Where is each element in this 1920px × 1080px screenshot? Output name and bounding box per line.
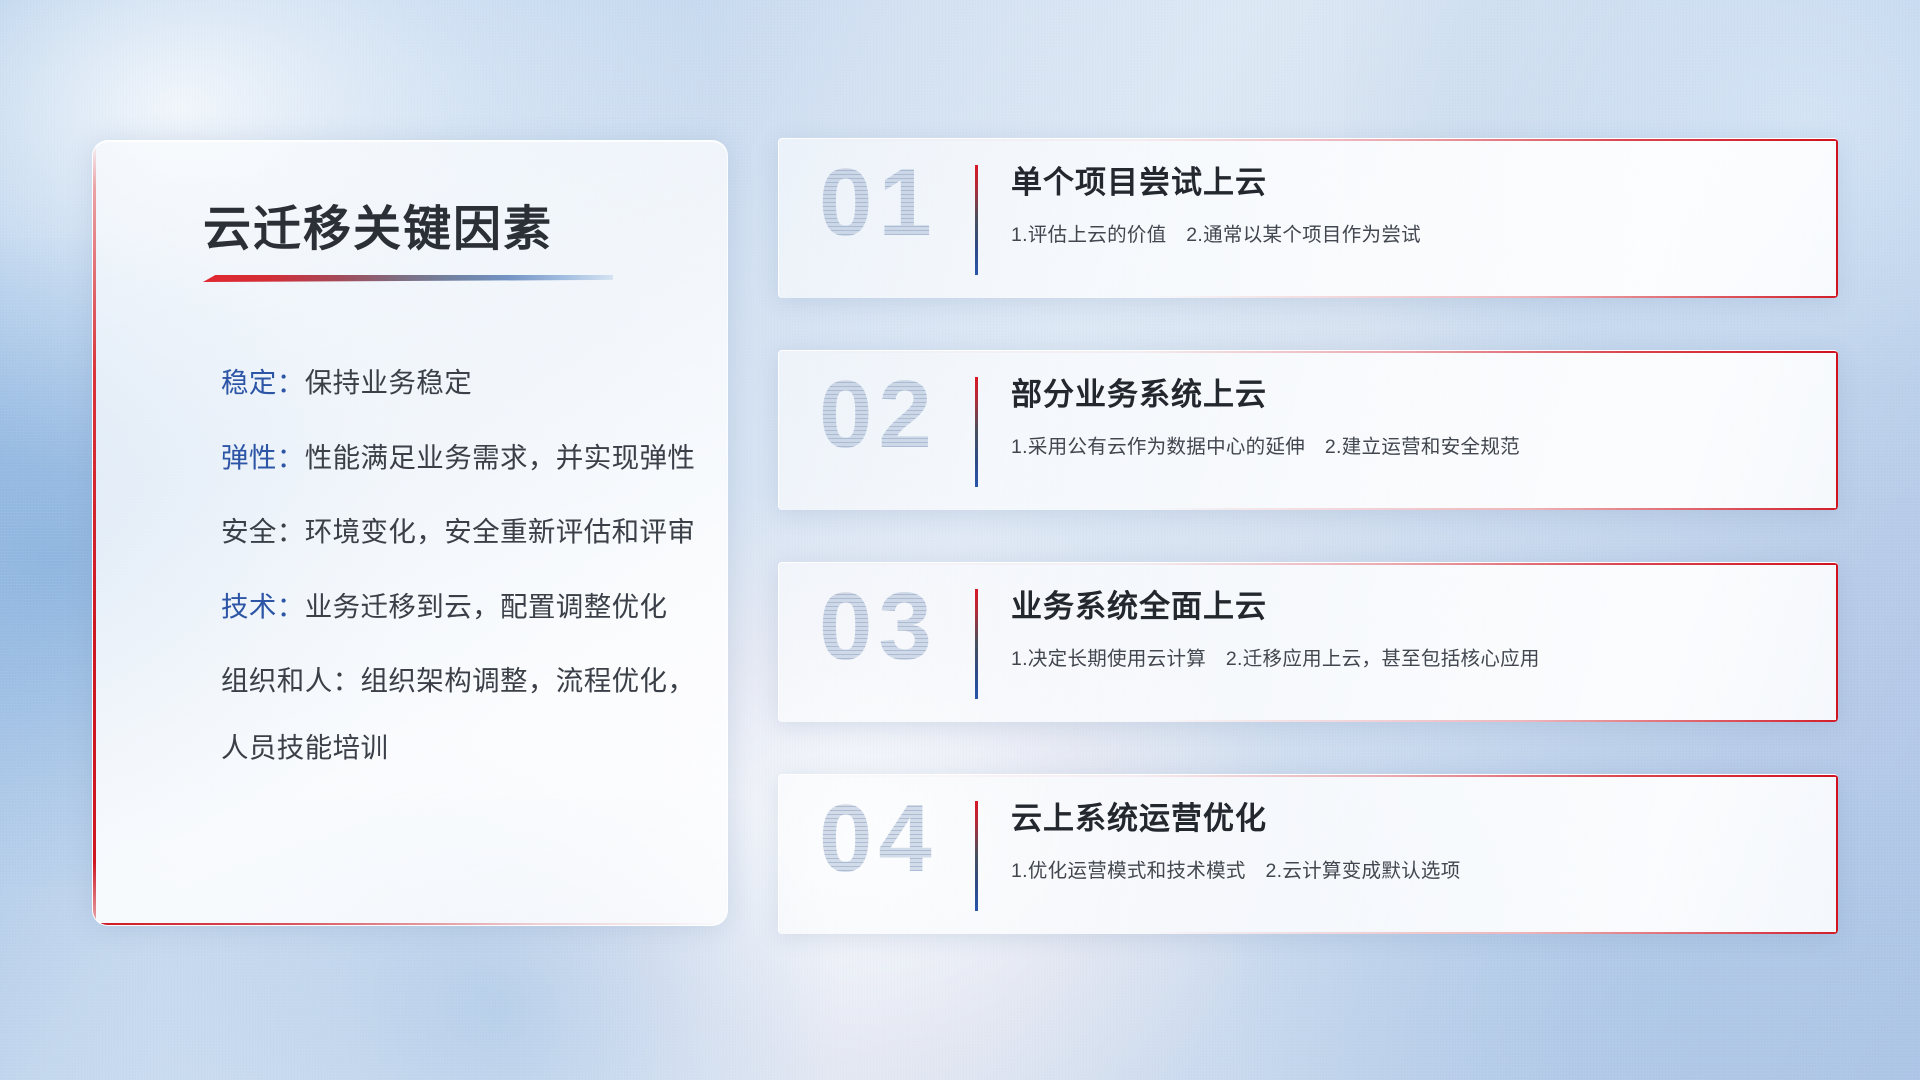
migration-steps-list: 01单个项目尝试上云1.评估上云的价值 2.通常以某个项目作为尝试02部分业务系…: [778, 138, 1838, 986]
factor-description: 性能满足业务需求，并实现弹性: [305, 442, 696, 473]
card-top-accent: [779, 351, 1838, 353]
step-subtitle: 1.优化运营模式和技术模式 2.云计算变成默认选项: [1011, 854, 1798, 883]
card-bottom-accent: [1150, 720, 1838, 722]
step-card[interactable]: 01单个项目尝试上云1.评估上云的价值 2.通常以某个项目作为尝试: [778, 138, 1838, 298]
step-number: 04: [819, 791, 938, 887]
step-body: 业务系统全面上云1.决定长期使用云计算 2.迁移应用上云，甚至包括核心应用: [1011, 589, 1798, 671]
step-divider: [975, 801, 978, 911]
step-body: 云上系统运营优化1.优化运营模式和技术模式 2.云计算变成默认选项: [1011, 801, 1798, 883]
factor-row: 稳定：保持业务稳定: [221, 369, 687, 397]
factor-label: 弹性：: [221, 442, 305, 473]
card-top-accent: [779, 139, 1838, 141]
step-divider: [975, 589, 978, 699]
factor-label: 安全：: [221, 516, 305, 547]
factor-description: 保持业务稳定: [305, 367, 472, 398]
step-card[interactable]: 04云上系统运营优化1.优化运营模式和技术模式 2.云计算变成默认选项: [778, 774, 1838, 934]
step-number: 02: [819, 367, 938, 463]
card-top-accent: [779, 563, 1838, 565]
step-title: 业务系统全面上云: [1011, 589, 1798, 626]
step-body: 部分业务系统上云1.采用公有云作为数据中心的延伸 2.建立运营和安全规范: [1011, 377, 1798, 459]
factor-description: 组织架构调整，流程优化，: [361, 665, 696, 696]
factor-row: 安全：环境变化，安全重新评估和评审: [221, 518, 687, 546]
step-subtitle: 1.决定长期使用云计算 2.迁移应用上云，甚至包括核心应用: [1011, 642, 1798, 671]
step-subtitle: 1.采用公有云作为数据中心的延伸 2.建立运营和安全规范: [1011, 430, 1798, 459]
card-bottom-accent: [1150, 296, 1838, 298]
title-underline-rule: [203, 275, 613, 282]
step-number: 01: [819, 155, 938, 251]
factor-description: 人员技能培训: [221, 732, 388, 763]
card-bottom-accent: [1150, 932, 1838, 934]
factor-label: 技术：: [221, 591, 305, 622]
factor-row: 弹性：性能满足业务需求，并实现弹性: [221, 444, 687, 472]
step-divider: [975, 165, 978, 275]
step-body: 单个项目尝试上云1.评估上云的价值 2.通常以某个项目作为尝试: [1011, 165, 1798, 247]
factor-description: 环境变化，安全重新评估和评审: [305, 516, 696, 547]
factor-label: 稳定：: [221, 367, 305, 398]
step-title: 单个项目尝试上云: [1011, 165, 1798, 202]
step-title: 部分业务系统上云: [1011, 377, 1798, 414]
key-factors-panel: 云迁移关键因素 稳定：保持业务稳定弹性：性能满足业务需求，并实现弹性安全：环境变…: [92, 140, 728, 926]
step-card[interactable]: 02部分业务系统上云1.采用公有云作为数据中心的延伸 2.建立运营和安全规范: [778, 350, 1838, 510]
card-bottom-accent: [1150, 508, 1838, 510]
card-top-accent: [779, 775, 1838, 777]
slide-stage: 云迁移关键因素 稳定：保持业务稳定弹性：性能满足业务需求，并实现弹性安全：环境变…: [0, 0, 1920, 1080]
factor-description: 业务迁移到云，配置调整优化: [305, 591, 668, 622]
page-title: 云迁移关键因素: [203, 189, 553, 259]
step-number: 03: [819, 579, 938, 675]
step-title: 云上系统运营优化: [1011, 801, 1798, 838]
key-factors-list: 稳定：保持业务稳定弹性：性能满足业务需求，并实现弹性安全：环境变化，安全重新评估…: [221, 369, 687, 761]
factor-row: 组织和人：组织架构调整，流程优化，: [221, 667, 687, 695]
factor-row: 技术：业务迁移到云，配置调整优化: [221, 593, 687, 621]
step-card[interactable]: 03业务系统全面上云1.决定长期使用云计算 2.迁移应用上云，甚至包括核心应用: [778, 562, 1838, 722]
factor-row: 人员技能培训: [221, 734, 687, 762]
step-divider: [975, 377, 978, 487]
factor-label: 组织和人：: [221, 665, 361, 696]
step-subtitle: 1.评估上云的价值 2.通常以某个项目作为尝试: [1011, 218, 1798, 247]
